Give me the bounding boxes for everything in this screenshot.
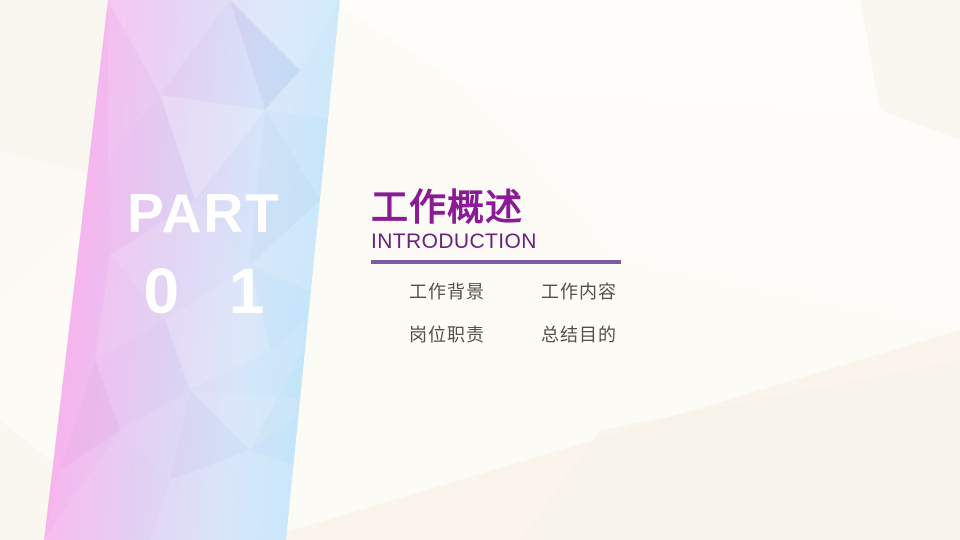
part-number: 0 1 xyxy=(104,259,304,323)
agenda-item-work-content[interactable]: 工作内容 xyxy=(531,278,617,304)
title-divider xyxy=(371,260,621,264)
page-title-en: INTRODUCTION xyxy=(371,230,691,254)
part-label: PART xyxy=(104,186,304,241)
section-content: 工作概述 INTRODUCTION 工作背景 工作内容 岗位职责 总结目的 xyxy=(371,188,691,364)
agenda-row: 岗位职责 总结目的 xyxy=(371,321,629,347)
agenda-menu: 工作背景 工作内容 岗位职责 总结目的 xyxy=(371,278,629,347)
agenda-row: 工作背景 工作内容 xyxy=(371,278,629,304)
section-marker: PART 0 1 xyxy=(104,186,304,323)
slide-canvas: PART 0 1 工作概述 INTRODUCTION 工作背景 工作内容 岗位职… xyxy=(0,0,960,540)
page-title-cn: 工作概述 xyxy=(371,188,691,228)
agenda-item-summary-purpose[interactable]: 总结目的 xyxy=(531,321,617,347)
agenda-item-work-background[interactable]: 工作背景 xyxy=(371,278,531,304)
agenda-item-job-duties[interactable]: 岗位职责 xyxy=(371,321,531,347)
